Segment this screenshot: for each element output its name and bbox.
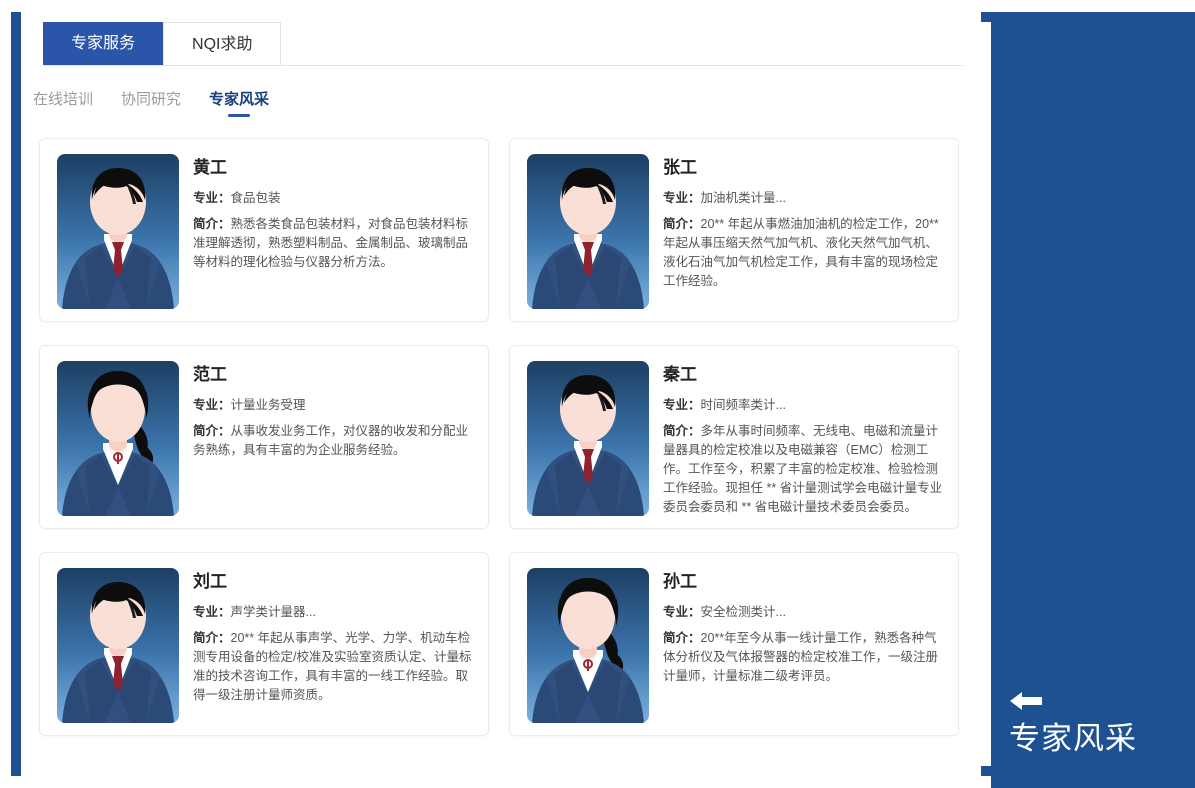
expert-info: 张工 专业：加油机类计量... 简介：20** 年起从事燃油加油机的检定工作，2…: [663, 157, 946, 291]
major-value: 时间频率类计...: [701, 398, 786, 412]
avatar: [57, 361, 179, 516]
bio-label: 简介：: [193, 424, 231, 438]
bio-label: 简介：: [663, 631, 701, 645]
expert-major: 专业：计量业务受理: [193, 396, 476, 415]
expert-major: 专业：声学类计量器...: [193, 603, 476, 622]
expert-info: 黄工 专业：食品包装 简介：熟悉各类食品包装材料，对食品包装材料标准理解透彻，熟…: [193, 157, 476, 272]
screenshot-root: 专家风采 专家服务 NQI求助 在线培训 协同研究 专家风采: [0, 0, 1195, 788]
bio-label: 简介：: [193, 217, 231, 231]
expert-info: 秦工 专业：时间频率类计... 简介：多年从事时间频率、无线电、电磁和流量计量器…: [663, 364, 946, 517]
expert-info: 范工 专业：计量业务受理 简介：从事收发业务工作，对仪器的收发和分配业务熟练，具…: [193, 364, 476, 460]
bio-value: 熟悉各类食品包装材料，对食品包装材料标准理解透彻，熟悉塑料制品、金属制品、玻璃制…: [193, 217, 468, 269]
bio-value: 多年从事时间频率、无线电、电磁和流量计量器具的检定校准以及电磁兼容（EMC）检测…: [663, 424, 942, 514]
annotation-panel: 专家风采: [991, 12, 1195, 788]
avatar: [57, 154, 179, 309]
expert-major: 专业：时间频率类计...: [663, 396, 946, 415]
annotation-label: 专家风采: [1009, 720, 1179, 758]
expert-card[interactable]: 孙工 专业：安全检测类计... 简介：20**年至今从事一线计量工作，熟悉各种气…: [509, 552, 959, 736]
sub-tabstrip: 在线培训 协同研究 专家风采: [33, 88, 981, 122]
expert-card[interactable]: 范工 专业：计量业务受理 简介：从事收发业务工作，对仪器的收发和分配业务熟练，具…: [39, 345, 489, 529]
expert-major: 专业：加油机类计量...: [663, 189, 946, 208]
tab-expert-service[interactable]: 专家服务: [43, 22, 163, 65]
arrow-left-icon: [1009, 690, 1043, 712]
expert-name: 刘工: [193, 571, 476, 593]
expert-bio: 简介：20**年至今从事一线计量工作，熟悉各种气体分析仪及气体报警器的检定校准工…: [663, 629, 946, 686]
bio-value: 20** 年起从事声学、光学、力学、机动车检测专用设备的检定/校准及实验室资质认…: [193, 631, 471, 702]
avatar: [527, 154, 649, 309]
expert-info: 刘工 专业：声学类计量器... 简介：20** 年起从事声学、光学、力学、机动车…: [193, 571, 476, 705]
bio-label: 简介：: [663, 217, 701, 231]
bio-value: 20**年至今从事一线计量工作，熟悉各种气体分析仪及气体报警器的检定校准工作，一…: [663, 631, 938, 683]
bio-value: 从事收发业务工作，对仪器的收发和分配业务熟练，具有丰富的为企业服务经验。: [193, 424, 468, 457]
major-label: 专业：: [193, 605, 231, 619]
expert-bio: 简介：多年从事时间频率、无线电、电磁和流量计量器具的检定校准以及电磁兼容（EMC…: [663, 422, 946, 517]
expert-card[interactable]: 黄工 专业：食品包装 简介：熟悉各类食品包装材料，对食品包装材料标准理解透彻，熟…: [39, 138, 489, 322]
tab-nqi-help[interactable]: NQI求助: [163, 22, 281, 65]
major-value: 安全检测类计...: [701, 605, 786, 619]
app-content: 专家服务 NQI求助 在线培训 协同研究 专家风采: [21, 12, 981, 776]
expert-card[interactable]: 张工 专业：加油机类计量... 简介：20** 年起从事燃油加油机的检定工作，2…: [509, 138, 959, 322]
major-label: 专业：: [663, 605, 701, 619]
expert-major: 专业：安全检测类计...: [663, 603, 946, 622]
subtab-collaborative-research[interactable]: 协同研究: [121, 88, 181, 117]
expert-card-grid: 黄工 专业：食品包装 简介：熟悉各类食品包装材料，对食品包装材料标准理解透彻，熟…: [39, 138, 971, 759]
subtab-expert-showcase[interactable]: 专家风采: [209, 88, 269, 117]
expert-bio: 简介：20** 年起从事燃油加油机的检定工作，20**年起从事压缩天然气加气机、…: [663, 215, 946, 291]
expert-name: 秦工: [663, 364, 946, 386]
major-value: 食品包装: [231, 191, 281, 205]
expert-name: 范工: [193, 364, 476, 386]
expert-name: 张工: [663, 157, 946, 179]
avatar: [57, 568, 179, 723]
expert-bio: 简介：20** 年起从事声学、光学、力学、机动车检测专用设备的检定/校准及实验室…: [193, 629, 476, 705]
expert-name: 孙工: [663, 571, 946, 593]
bio-label: 简介：: [663, 424, 701, 438]
avatar: [527, 361, 649, 516]
expert-card[interactable]: 刘工 专业：声学类计量器... 简介：20** 年起从事声学、光学、力学、机动车…: [39, 552, 489, 736]
expert-info: 孙工 专业：安全检测类计... 简介：20**年至今从事一线计量工作，熟悉各种气…: [663, 571, 946, 686]
major-value: 加油机类计量...: [701, 191, 786, 205]
expert-bio: 简介：从事收发业务工作，对仪器的收发和分配业务熟练，具有丰富的为企业服务经验。: [193, 422, 476, 460]
annotation-content: 专家风采: [1009, 690, 1179, 758]
major-label: 专业：: [663, 398, 701, 412]
avatar: [527, 568, 649, 723]
major-label: 专业：: [193, 398, 231, 412]
major-value: 声学类计量器...: [231, 605, 316, 619]
major-value: 计量业务受理: [231, 398, 306, 412]
expert-name: 黄工: [193, 157, 476, 179]
subtab-online-training[interactable]: 在线培训: [33, 88, 93, 117]
expert-card[interactable]: 秦工 专业：时间频率类计... 简介：多年从事时间频率、无线电、电磁和流量计量器…: [509, 345, 959, 529]
bio-label: 简介：: [193, 631, 231, 645]
major-label: 专业：: [663, 191, 701, 205]
expert-major: 专业：食品包装: [193, 189, 476, 208]
primary-tabstrip: 专家服务 NQI求助: [43, 22, 963, 66]
major-label: 专业：: [193, 191, 231, 205]
expert-bio: 简介：熟悉各类食品包装材料，对食品包装材料标准理解透彻，熟悉塑料制品、金属制品、…: [193, 215, 476, 272]
bio-value: 20** 年起从事燃油加油机的检定工作，20**年起从事压缩天然气加气机、液化天…: [663, 217, 939, 288]
